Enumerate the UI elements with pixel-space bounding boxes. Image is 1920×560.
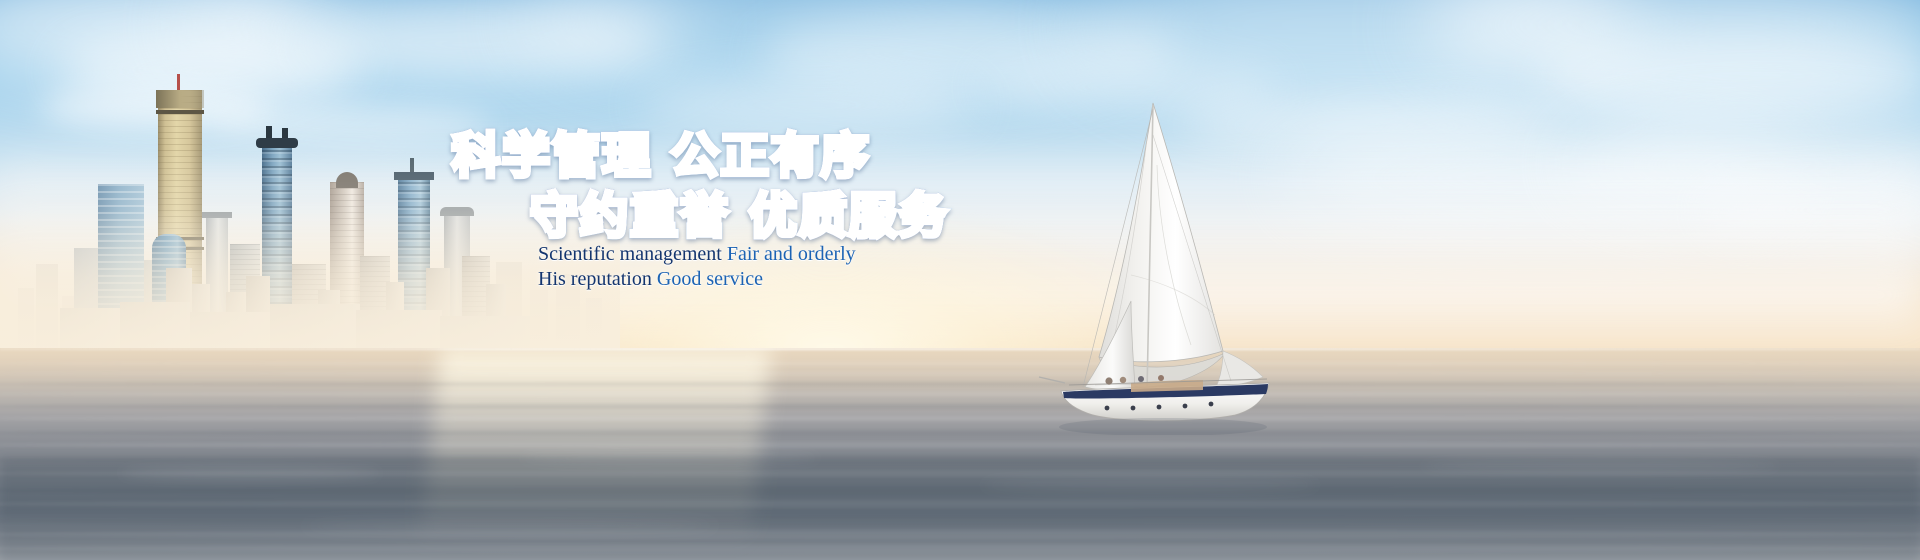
subtitle-block: Scientific management Fair and orderly H… — [538, 242, 856, 292]
subtitle-line-2: His reputation Good service — [538, 267, 856, 292]
cloud — [640, 76, 980, 134]
crew-member — [1105, 377, 1112, 384]
porthole — [1131, 406, 1136, 411]
boat-reflection — [1059, 418, 1267, 435]
crew-member — [1138, 376, 1144, 382]
subtitle-line-1-part-2: Fair and orderly — [727, 243, 856, 265]
porthole — [1183, 404, 1188, 409]
horizon-line — [0, 348, 1920, 350]
porthole — [1105, 406, 1110, 411]
subtitle-line-1: Scientific management Fair and orderly — [538, 242, 856, 267]
subtitle-line-2-part-2: Good service — [657, 268, 763, 290]
ocean-water — [0, 348, 1920, 560]
porthole — [1157, 405, 1162, 410]
jib-sail — [1085, 301, 1135, 390]
porthole — [1209, 402, 1214, 407]
bowsprit — [1039, 377, 1065, 383]
sailboat — [1035, 95, 1295, 435]
headline-block: 科学管理 公正有序 守约重誉 优质服务 — [452, 128, 1012, 244]
cloud — [1540, 30, 1920, 122]
crew-member — [1158, 375, 1164, 381]
promo-banner: 科学管理 公正有序 守约重誉 优质服务 Scientific managemen… — [0, 0, 1920, 560]
water-shadow — [0, 524, 1920, 560]
subtitle-line-1-part-1: Scientific management — [538, 243, 722, 265]
headline-line-2: 守约重誉 优质服务 — [530, 188, 1012, 244]
crew-member — [1120, 377, 1126, 383]
headline-line-1: 科学管理 公正有序 — [452, 128, 1012, 184]
subtitle-line-2-part-1: His reputation — [538, 268, 652, 290]
